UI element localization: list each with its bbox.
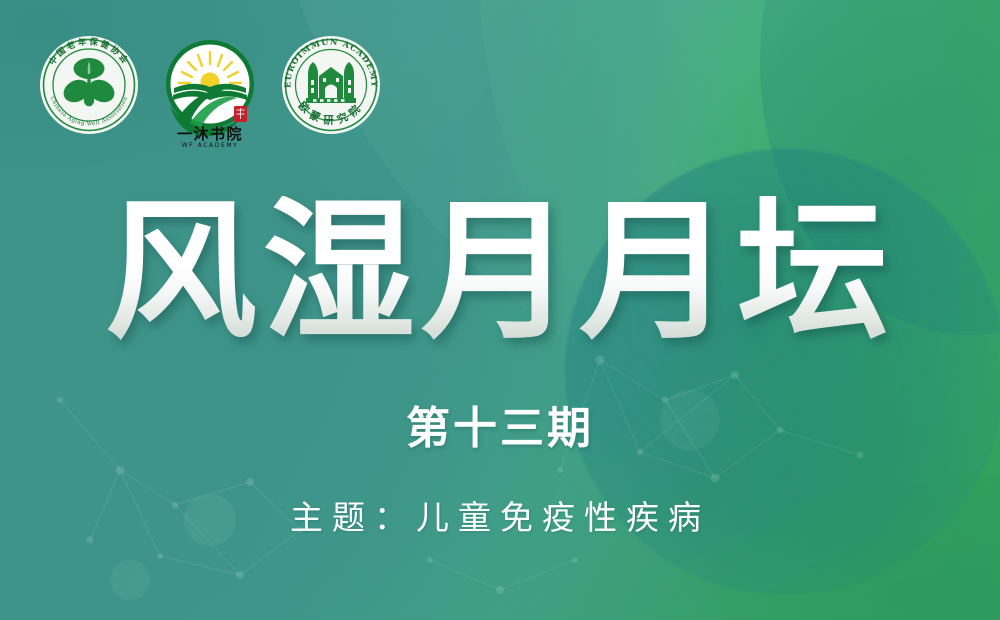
wf-academy-name-en: WF ACADEMY — [182, 142, 239, 149]
logo-bar: 中国老年保健协会 Chinese Aging Well Association — [38, 34, 382, 150]
logo-euroimmun-academy: EUROIMMUN ACADEMY 欧蒙研究院 — [280, 34, 382, 136]
trefoil-leaf-circle-icon: 中国老年保健协会 Chinese Aging Well Association — [38, 34, 140, 136]
logo-wf-academy: 一沐书院 WF ACADEMY — [156, 34, 264, 150]
wf-academy-name-cn: 一沐书院 — [177, 125, 243, 143]
poster-canvas: 中国老年保健协会 Chinese Aging Well Association — [0, 0, 1000, 620]
theme-label: 主题：儿童免疫性疾病 — [0, 501, 1000, 534]
sunrise-path-circle-icon: 一沐书院 WF ACADEMY — [156, 34, 264, 150]
logo-chinese-aging-well-association: 中国老年保健协会 Chinese Aging Well Association — [38, 34, 140, 136]
page-title: 风湿月月坛 — [0, 196, 1000, 348]
castle-gate-circle-icon: EUROIMMUN ACADEMY 欧蒙研究院 — [280, 34, 382, 136]
episode-label: 第十三期 — [0, 407, 1000, 451]
